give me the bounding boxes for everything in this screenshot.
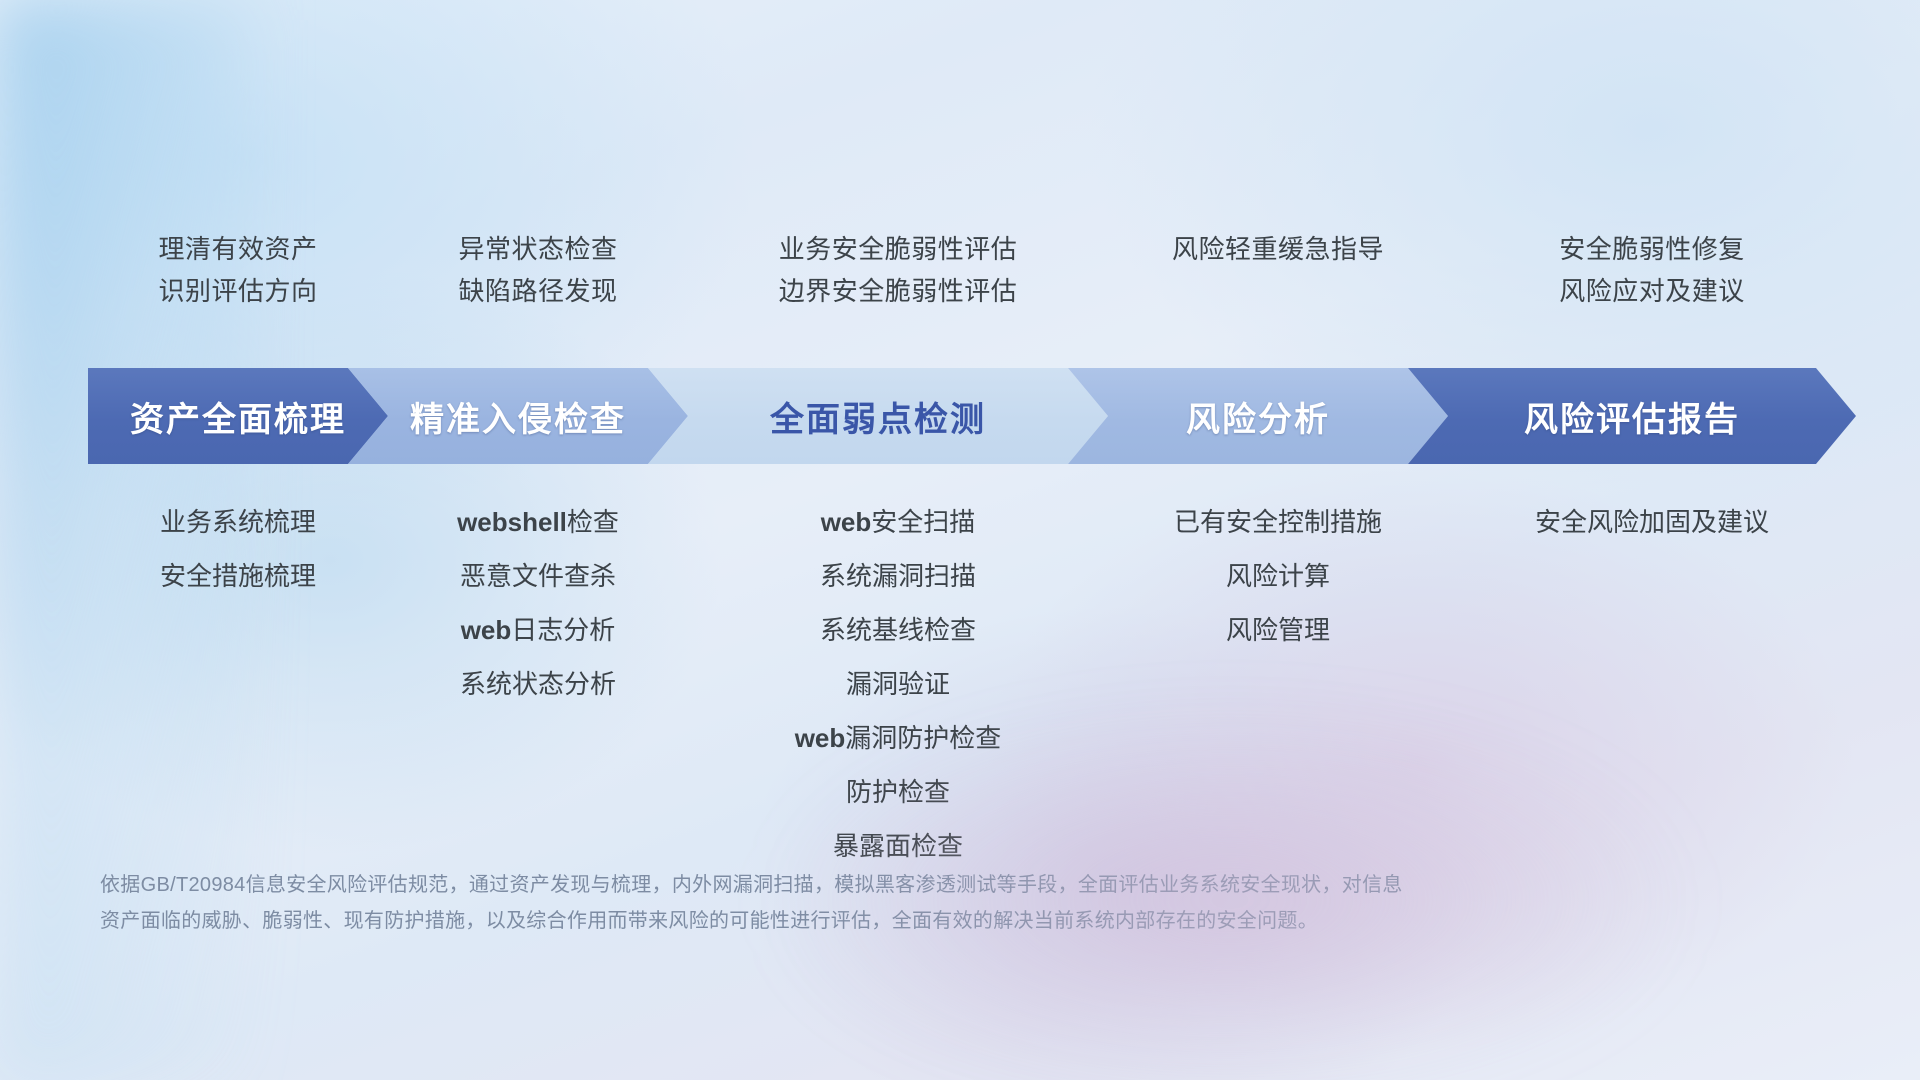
top-caption: 边界安全脆弱性评估 [779, 270, 1018, 312]
stage-chevron-intrusion[interactable]: 精准入侵检查 [348, 368, 688, 464]
top-caption-group-report: 安全脆弱性修复风险应对及建议 [1432, 228, 1872, 312]
top-caption-group-weakness: 业务安全脆弱性评估边界安全脆弱性评估 [678, 228, 1118, 312]
stage-label: 全面弱点检测 [770, 392, 986, 441]
stage-chevron-weakness[interactable]: 全面弱点检测 [648, 368, 1108, 464]
detail-item[interactable]: 系统基线检查 [820, 603, 976, 657]
stage-chevron-asset[interactable]: 资产全面梳理 [88, 368, 388, 464]
stage-chevron-report[interactable]: 风险评估报告 [1408, 368, 1856, 464]
top-caption: 安全脆弱性修复 [1559, 228, 1745, 270]
detail-item[interactable]: 安全风险加固及建议 [1535, 495, 1769, 549]
stage-label: 精准入侵检查 [410, 392, 626, 441]
detail-item[interactable]: 系统漏洞扫描 [820, 549, 976, 603]
detail-item-rest: 日志分析 [511, 615, 615, 645]
detail-item[interactable]: 暴露面检查 [833, 819, 963, 873]
detail-group-report: 安全风险加固及建议 [1422, 495, 1882, 549]
top-caption: 风险应对及建议 [1559, 270, 1745, 312]
detail-item[interactable]: 风险计算 [1226, 549, 1330, 603]
process-chevron-banner: 资产全面梳理精准入侵检查全面弱点检测风险分析风险评估报告 [88, 368, 1856, 464]
top-caption: 缺陷路径发现 [458, 270, 617, 312]
stage-label: 风险分析 [1186, 392, 1330, 441]
top-caption: 理清有效资产 [158, 228, 317, 270]
detail-item-keyword: webshell [457, 507, 567, 537]
detail-item-rest: 漏洞防护检查 [845, 723, 1001, 753]
stage-label: 资产全面梳理 [130, 392, 346, 441]
detail-item-rest: 检查 [567, 507, 619, 537]
stage-label: 风险评估报告 [1524, 392, 1740, 441]
detail-item[interactable]: 恶意文件查杀 [460, 549, 616, 603]
detail-item[interactable]: 风险管理 [1226, 603, 1330, 657]
detail-item-keyword: web [795, 723, 846, 753]
detail-item[interactable]: webshell检查 [457, 495, 619, 549]
detail-item[interactable]: web安全扫描 [821, 495, 976, 549]
detail-item[interactable]: web日志分析 [461, 603, 616, 657]
detail-item-rest: 安全扫描 [871, 507, 975, 537]
top-caption: 业务安全脆弱性评估 [779, 228, 1018, 270]
detail-item[interactable]: 业务系统梳理 [160, 495, 316, 549]
infographic-canvas: 理清有效资产识别评估方向异常状态检查缺陷路径发现业务安全脆弱性评估边界安全脆弱性… [0, 0, 1920, 1080]
top-caption: 识别评估方向 [158, 270, 317, 312]
footer-description: 依据GB/T20984信息安全风险评估规范，通过资产发现与梳理，内外网漏洞扫描，… [100, 868, 1660, 939]
detail-item[interactable]: 防护检查 [846, 765, 950, 819]
detail-item[interactable]: 已有安全控制措施 [1174, 495, 1382, 549]
top-caption: 异常状态检查 [458, 228, 617, 270]
detail-item[interactable]: 安全措施梳理 [160, 549, 316, 603]
detail-item[interactable]: 系统状态分析 [460, 657, 616, 711]
stage-chevron-risk-analysis[interactable]: 风险分析 [1068, 368, 1448, 464]
detail-item-keyword: web [821, 507, 872, 537]
detail-item-keyword: web [461, 615, 512, 645]
detail-item[interactable]: web漏洞防护检查 [795, 711, 1002, 765]
footer-line-2: 资产面临的威胁、脆弱性、现有防护措施，以及综合作用而带来风险的可能性进行评估，全… [100, 904, 1660, 940]
top-caption: 风险轻重缓急指导 [1172, 228, 1384, 270]
detail-item[interactable]: 漏洞验证 [846, 657, 950, 711]
footer-line-1: 依据GB/T20984信息安全风险评估规范，通过资产发现与梳理，内外网漏洞扫描，… [100, 868, 1660, 904]
